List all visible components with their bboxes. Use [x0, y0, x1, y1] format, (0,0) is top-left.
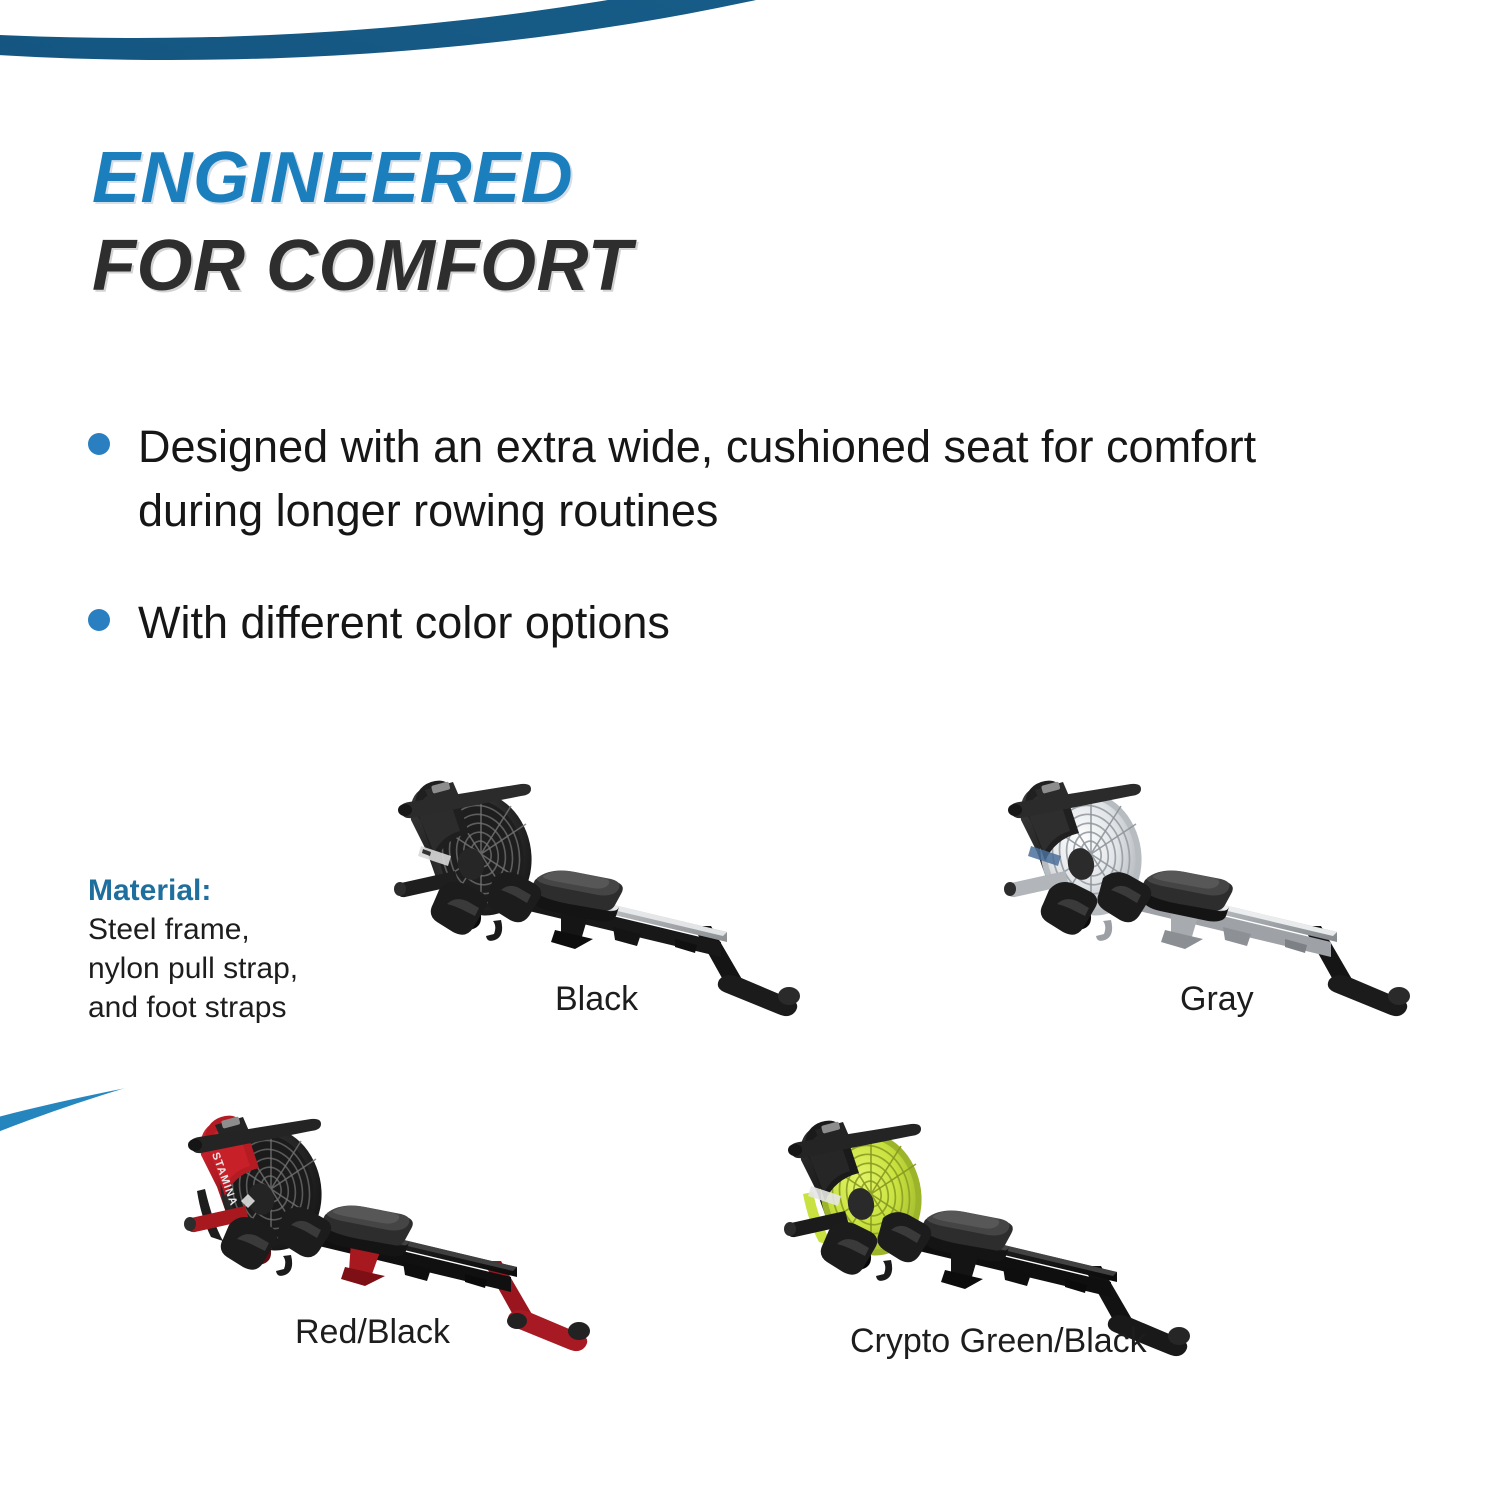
list-item: With different color options	[88, 591, 1388, 655]
bullet-text: With different color options	[138, 591, 670, 655]
list-item: Designed with an extra wide, cushioned s…	[88, 415, 1388, 543]
product-caption: Crypto Green/Black	[850, 1322, 1147, 1361]
product-card-black: Black	[375, 750, 845, 1020]
product-color-grid: Black	[0, 740, 1500, 1400]
bullet-dot-icon	[88, 609, 110, 631]
headline-line-2: FOR COMFORT	[92, 230, 632, 302]
rowing-machine-illustration	[765, 1090, 1235, 1360]
page-title: ENGINEERED FOR COMFORT	[92, 142, 632, 302]
content-area: ENGINEERED FOR COMFORT Designed with an …	[0, 0, 1500, 1500]
product-card-red-black: STAMINA	[165, 1085, 635, 1355]
product-caption: Black	[555, 980, 638, 1019]
bullet-dot-icon	[88, 433, 110, 455]
product-caption: Red/Black	[295, 1313, 450, 1352]
rower-svg-crypto-green-black	[765, 1090, 1235, 1360]
product-card-crypto-green-black: Crypto Green/Black	[765, 1090, 1235, 1360]
feature-bullet-list: Designed with an extra wide, cushioned s…	[88, 415, 1388, 703]
headline-line-1: ENGINEERED	[92, 142, 632, 214]
infographic-page: ENGINEERED FOR COMFORT Designed with an …	[0, 0, 1500, 1500]
product-caption: Gray	[1180, 980, 1254, 1019]
product-card-gray: Gray	[985, 750, 1455, 1020]
bullet-text: Designed with an extra wide, cushioned s…	[138, 415, 1328, 543]
